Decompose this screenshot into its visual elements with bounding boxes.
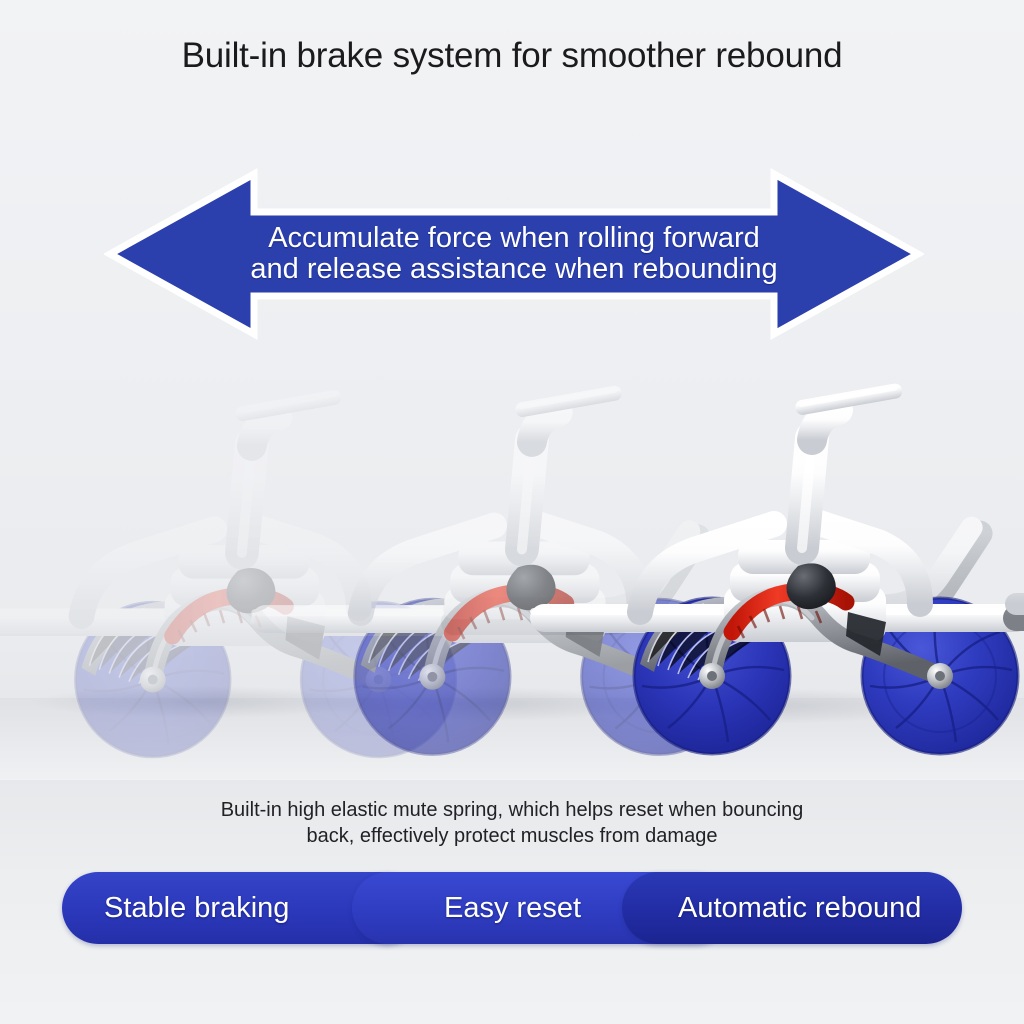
bidirectional-arrow-banner: Accumulate force when rolling forward an… <box>104 168 924 340</box>
caption-line-1: Built-in high elastic mute spring, which… <box>221 799 804 821</box>
feature-pill-automatic-rebound[interactable]: Automatic rebound <box>622 872 962 944</box>
product-feature-graphic: Built-in brake system for smoother rebou… <box>0 0 1024 1024</box>
product-caption: Built-in high elastic mute spring, which… <box>0 797 1024 849</box>
feature-pill-bar: Stable braking Easy reset Automatic rebo… <box>62 872 962 944</box>
feature-pill-label: Automatic rebound <box>678 892 921 925</box>
page-title: Built-in brake system for smoother rebou… <box>0 36 1024 76</box>
roller-solid <box>0 380 1024 780</box>
caption-line-2: back, effectively protect muscles from d… <box>0 823 1024 849</box>
product-image-ab-roller <box>0 380 1024 780</box>
feature-pill-label: Easy reset <box>444 892 581 925</box>
feature-pill-label: Stable braking <box>104 892 289 925</box>
double-headed-arrow-icon <box>104 168 924 340</box>
